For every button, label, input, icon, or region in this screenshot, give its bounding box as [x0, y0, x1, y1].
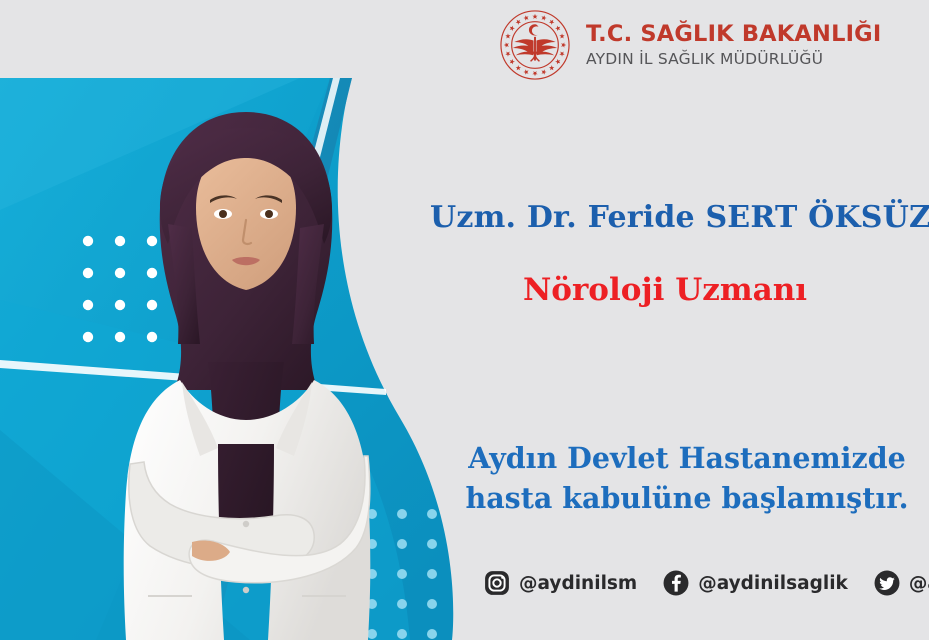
ministry-header: T.C. SAĞLIK BAKANLIĞI AYDIN İL SAĞLIK MÜ… [498, 8, 881, 82]
ministry-subtitle: AYDIN İL SAĞLIK MÜDÜRLÜĞÜ [586, 51, 881, 67]
poster-canvas: T.C. SAĞLIK BAKANLIĞI AYDIN İL SAĞLIK MÜ… [0, 0, 929, 640]
doctor-name: Uzm. Dr. Feride SERT ÖKSÜZ [430, 200, 900, 235]
instagram-icon[interactable] [484, 570, 510, 596]
pupil-right [265, 210, 273, 218]
instagram-handle[interactable]: @aydinilsm [519, 573, 637, 594]
pupil-left [219, 210, 227, 218]
facebook-handle[interactable]: @aydinilsaglik [698, 573, 848, 594]
doctor-specialty: Nöroloji Uzmanı [430, 272, 900, 308]
announcement-line-2: hasta kabulüne başlamıştır. [452, 478, 922, 518]
twitter-icon[interactable] [874, 570, 900, 596]
social-item-twitter[interactable]: @aydinilsm [874, 570, 929, 596]
social-item-instagram[interactable]: @aydinilsm [484, 570, 637, 596]
crescent-icon [529, 24, 539, 35]
doctor-portrait-photo [96, 104, 396, 640]
coat-button-bottom [243, 587, 249, 593]
ministry-header-text: T.C. SAĞLIK BAKANLIĞI AYDIN İL SAĞLIK MÜ… [586, 23, 881, 68]
social-links-row: @aydinilsm @aydinilsaglik @aydinilsm [484, 570, 929, 596]
announcement-text: Aydın Devlet Hastanemizde hasta kabulüne… [452, 438, 922, 519]
social-item-facebook[interactable]: @aydinilsaglik [663, 570, 848, 596]
announcement-line-1: Aydın Devlet Hastanemizde [452, 438, 922, 478]
ministry-of-health-crest-icon [498, 8, 572, 82]
twitter-handle[interactable]: @aydinilsm [909, 573, 929, 594]
facebook-icon[interactable] [663, 570, 689, 596]
ministry-title: T.C. SAĞLIK BAKANLIĞI [586, 23, 881, 47]
coat-button-top [243, 521, 249, 527]
